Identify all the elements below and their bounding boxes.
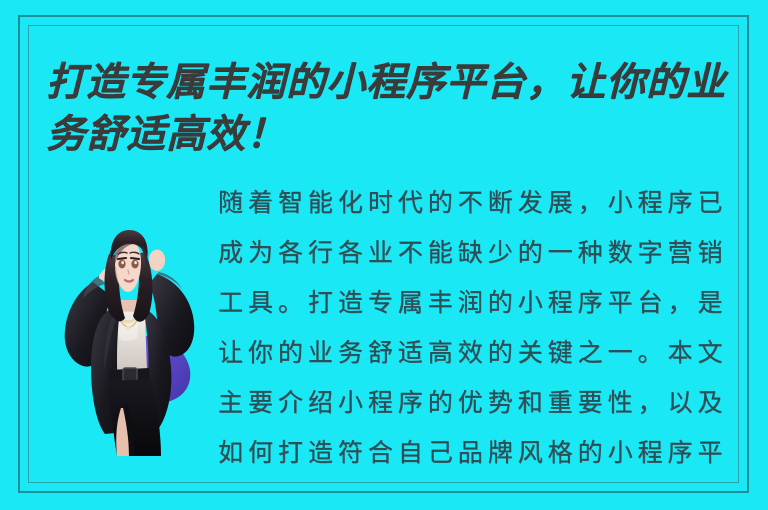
body-line: 主要介绍小程序的优势和重要性，以及: [218, 378, 724, 428]
body-line: 如何打造符合自己品牌风格的小程序平: [218, 428, 724, 478]
page-title-line-1: 打造专属丰润的小程序平台，让你的业: [46, 59, 726, 105]
body-line: 工具。打造专属丰润的小程序平台，是: [218, 278, 724, 328]
anime-woman-illustration: [47, 218, 205, 457]
body-line: 随着智能化时代的不断发展，小程序已: [218, 178, 724, 228]
body-line: 成为各行各业不能缺少的一种数字营销: [218, 228, 724, 278]
page-title: 打造专属丰润的小程序平台，让你的业 务舒适高效！: [46, 56, 736, 160]
poster-canvas: 打造专属丰润的小程序平台，让你的业 务舒适高效！: [0, 0, 768, 510]
body-line: 让你的业务舒适高效的关键之一。本文: [218, 328, 724, 378]
page-title-line-2: 务舒适高效！: [46, 111, 286, 157]
body-paragraph: 随着智能化时代的不断发展，小程序已 成为各行各业不能缺少的一种数字营销 工具。打…: [218, 178, 724, 478]
